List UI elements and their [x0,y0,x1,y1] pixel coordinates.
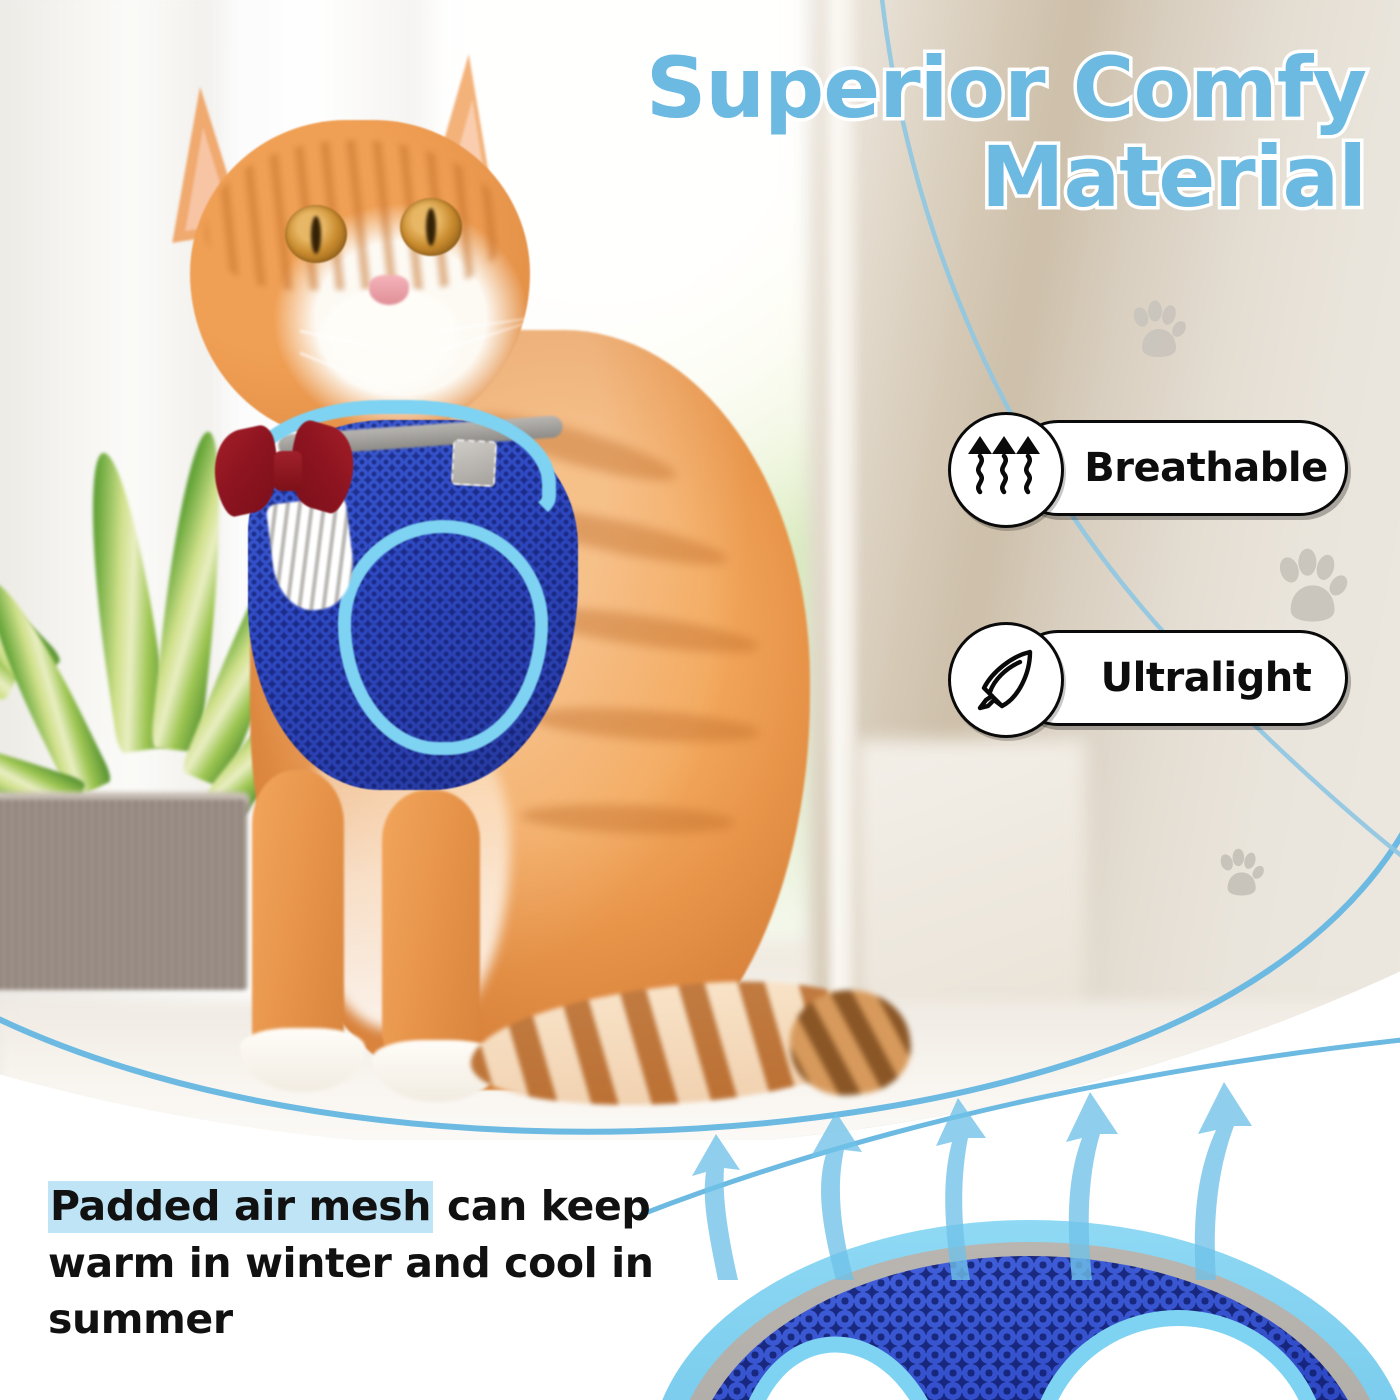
breathable-waves-icon [967,430,1045,510]
paw-print-icon [1216,848,1264,900]
badge-label: Ultralight [1047,655,1312,701]
feather-icon [966,640,1046,720]
harness-reflective-patch [451,439,497,487]
feature-caption: Padded air mesh can keep warm in winter … [48,1178,658,1348]
badge-icon-circle [948,412,1064,528]
harness-bowtie [214,425,364,517]
product-closeup-photo [640,1160,1400,1400]
page-title: Superior Comfy Material [506,44,1366,222]
product-feature-poster: Superior Comfy Material Breathable [0,0,1400,1400]
cat-front-leg-left [252,770,344,1070]
badge-label: Breathable [1030,445,1327,491]
cat-pupil-right [426,208,436,246]
planter [0,800,247,990]
paw-print-icon [1128,300,1186,362]
paw-print-icon [1272,548,1348,628]
headline-line-1: Superior Comfy [646,39,1366,137]
caption-highlight: Padded air mesh [48,1181,433,1233]
headline-line-2: Material [506,133,1366,222]
cat-pupil-left [311,216,321,254]
badge-icon-circle [948,622,1064,738]
cat-front-leg-right [382,790,480,1070]
